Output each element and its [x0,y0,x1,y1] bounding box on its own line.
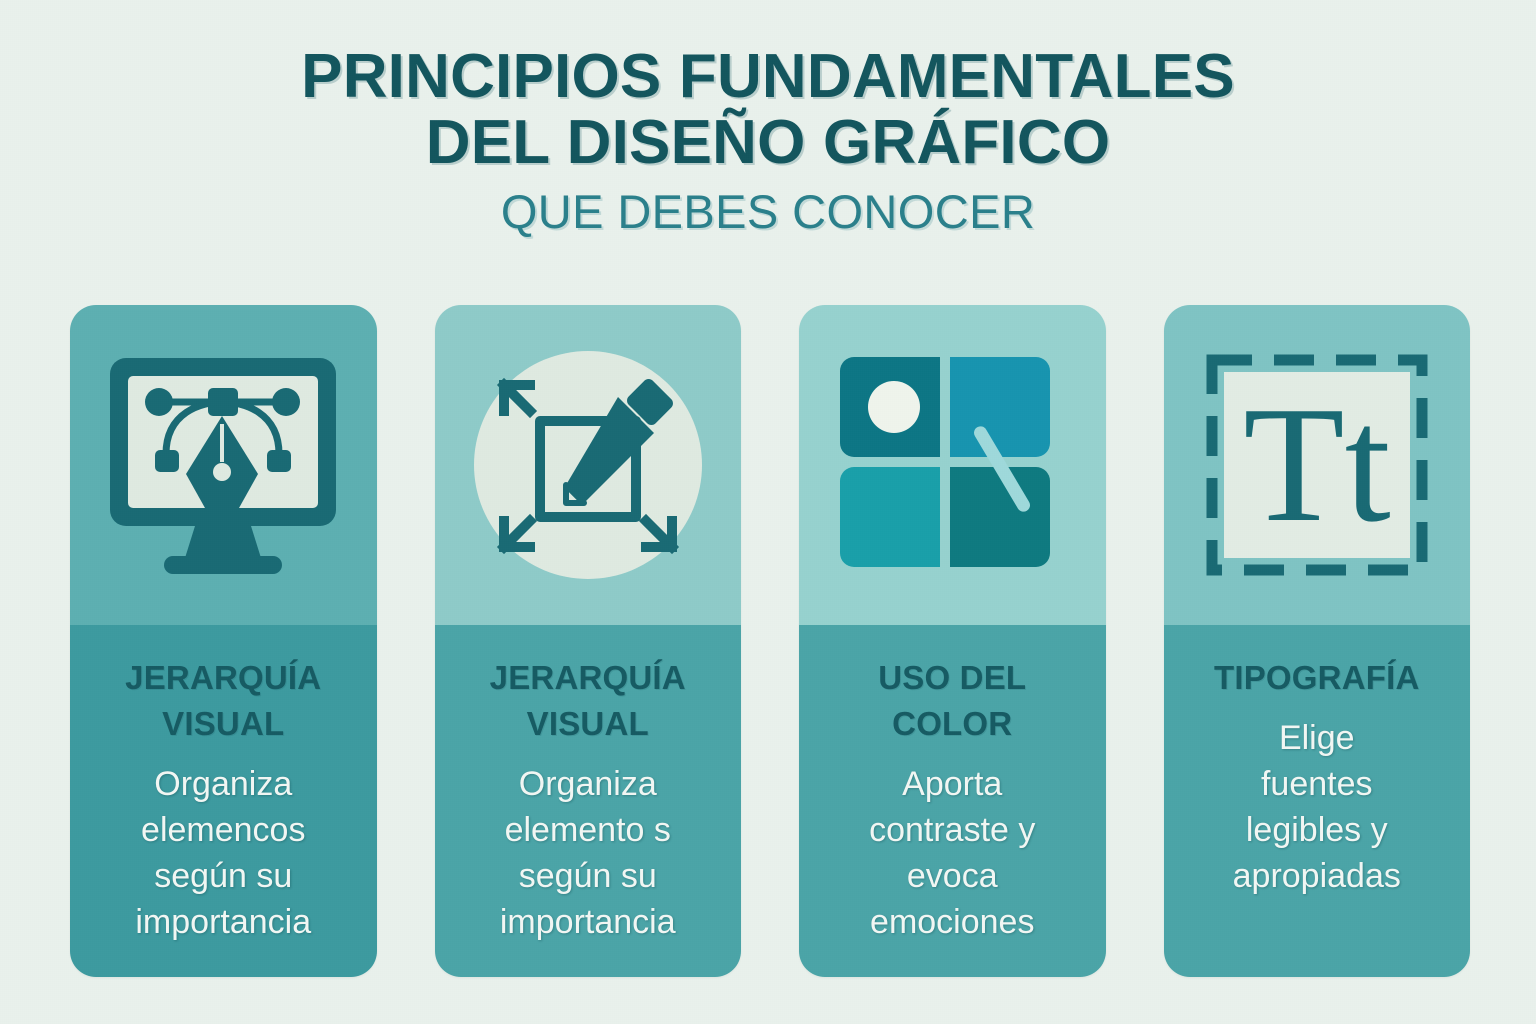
monitor-pen-tool-icon [98,350,348,580]
page-title-line-2: DEL DISEÑO GRÁFICO [0,110,1536,176]
card-body-line-2: fuentes [1180,761,1455,807]
card-body-line-4: importancia [86,899,361,945]
card-body-line-2: elemento s [451,807,726,853]
card-body: Organiza elemento s según su importancia [451,761,726,945]
card-heading-line-1: TIPOGRAFÍA [1180,655,1455,701]
card-text-area: TIPOGRAFÍA Elige fuentes legibles y apro… [1164,625,1471,977]
typography-tt-icon: Tt [1202,350,1432,580]
card-body-line-2: contraste y [815,807,1090,853]
card-uso-del-color[interactable]: USO DEL COLOR Aporta contraste y evoca e… [799,305,1106,977]
card-text-area: JERARQUÍA VISUAL Organiza elemento s seg… [435,625,742,977]
card-heading-line-2: VISUAL [86,701,361,747]
card-heading: TIPOGRAFÍA [1180,655,1455,701]
card-heading: USO DEL COLOR [815,655,1090,747]
card-heading-line-1: JERARQUÍA [86,655,361,701]
card-body-line-4: apropiadas [1180,853,1455,899]
header: PRINCIPIOS FUNDAMENTALES DEL DISEÑO GRÁF… [0,44,1536,238]
card-tipografia[interactable]: Tt TIPOGRAFÍA Elige fuentes legibles y a… [1164,305,1471,977]
card-body: Aporta contraste y evoca emociones [815,761,1090,945]
card-body-line-1: Aporta [815,761,1090,807]
card-body-line-1: Organiza [451,761,726,807]
card-body-line-1: Elige [1180,715,1455,761]
card-body-line-2: elemencos [86,807,361,853]
page-title-line-1: PRINCIPIOS FUNDAMENTALES [0,44,1536,110]
card-icon-area [70,305,377,625]
card-heading-line-1: USO DEL [815,655,1090,701]
card-body: Organiza elemencos según su importancia [86,761,361,945]
principles-card-row: JERARQUÍA VISUAL Organiza elemencos segú… [70,305,1470,977]
card-icon-area [435,305,742,625]
card-text-area: USO DEL COLOR Aporta contraste y evoca e… [799,625,1106,977]
card-body-line-3: legibles y [1180,807,1455,853]
typography-glyph-text: Tt [1243,372,1391,556]
card-text-area: JERARQUÍA VISUAL Organiza elemencos segú… [70,625,377,977]
color-swatch-grid-icon [832,349,1072,581]
card-jerarquia-visual-1[interactable]: JERARQUÍA VISUAL Organiza elemencos segú… [70,305,377,977]
card-body-line-3: evoca [815,853,1090,899]
card-body-line-3: según su [86,853,361,899]
edit-resize-icon [468,345,708,585]
card-body: Elige fuentes legibles y apropiadas [1180,715,1455,899]
card-icon-area [799,305,1106,625]
card-heading: JERARQUÍA VISUAL [451,655,726,747]
card-icon-area: Tt [1164,305,1471,625]
card-body-line-4: emociones [815,899,1090,945]
card-heading: JERARQUÍA VISUAL [86,655,361,747]
card-heading-line-1: JERARQUÍA [451,655,726,701]
card-body-line-1: Organiza [86,761,361,807]
card-jerarquia-visual-2[interactable]: JERARQUÍA VISUAL Organiza elemento s seg… [435,305,742,977]
page-subtitle: QUE DEBES CONOCER [0,186,1536,238]
card-body-line-3: según su [451,853,726,899]
card-heading-line-2: VISUAL [451,701,726,747]
card-heading-line-2: COLOR [815,701,1090,747]
card-body-line-4: importancia [451,899,726,945]
